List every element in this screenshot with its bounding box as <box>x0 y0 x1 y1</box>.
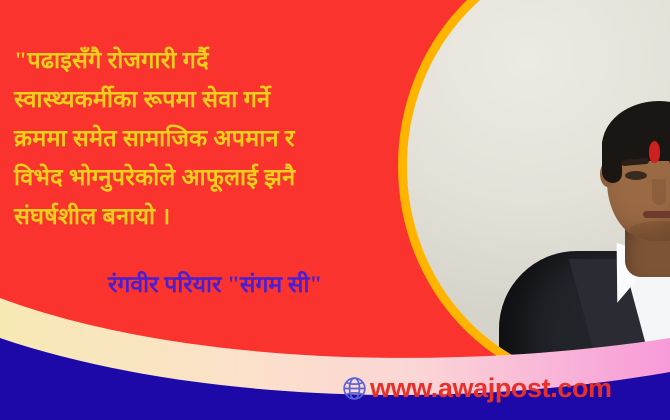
quote-card: "पढाइसँगै रोजगारी गर्दै स्वास्थ्यकर्मीका… <box>0 0 670 420</box>
quote-text-block: "पढाइसँगै रोजगारी गर्दै स्वास्थ्यकर्मीका… <box>14 42 414 237</box>
globe-icon <box>341 375 368 402</box>
mouth <box>643 211 670 218</box>
website-url-group[interactable]: www.awajpost.com <box>341 371 612 405</box>
tika-mark <box>649 141 660 163</box>
hair-side-left <box>602 131 622 183</box>
nose <box>652 179 666 205</box>
quote-line-1: "पढाइसँगै रोजगारी गर्दै <box>14 42 414 81</box>
quote-line-5: संघर्षशील बनायो । <box>14 198 414 237</box>
quote-line-3: क्रममा समेत सामाजिक अपमान र <box>14 120 414 159</box>
quote-line-4: विभेद भोग्नुपरेकोले आफूलाई झनै <box>14 159 414 198</box>
website-url-text[interactable]: www.awajpost.com <box>370 375 612 402</box>
quote-line-2: स्वास्थ्यकर्मीका रूपमा सेवा गर्ने <box>14 81 414 120</box>
eye-left <box>625 171 647 180</box>
